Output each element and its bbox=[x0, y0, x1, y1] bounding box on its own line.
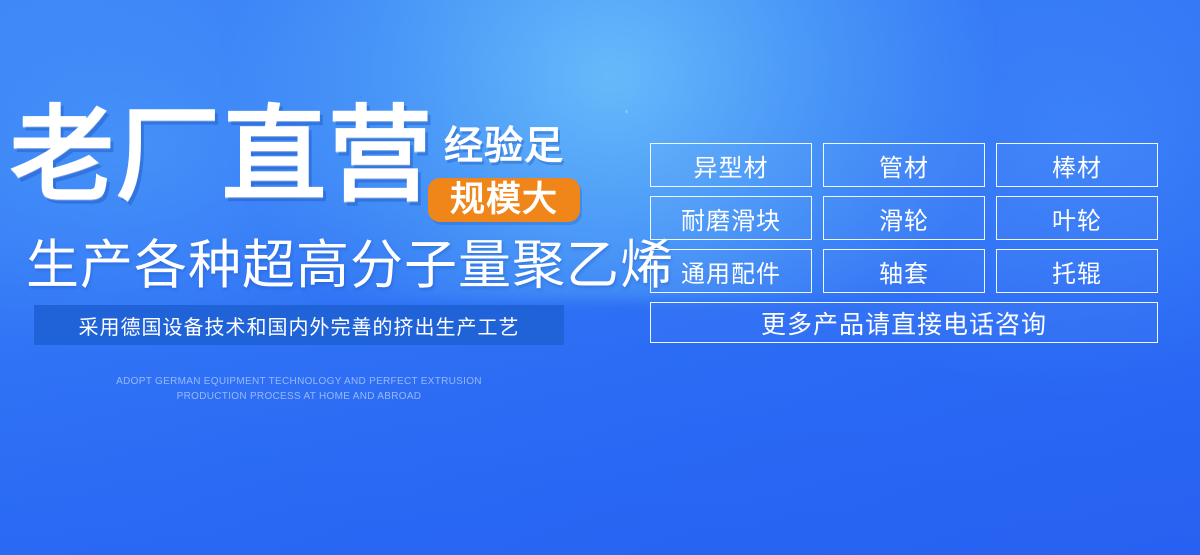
page-title: 老厂直营 bbox=[10, 103, 434, 207]
product-item-bangcai[interactable]: 棒材 bbox=[996, 143, 1158, 187]
badge-top-label: 经验足 bbox=[428, 124, 580, 170]
product-item-tongyongpeijian[interactable]: 通用配件 bbox=[650, 249, 812, 293]
product-item-yelun[interactable]: 叶轮 bbox=[996, 196, 1158, 240]
product-item-label: 轴套 bbox=[879, 254, 929, 289]
product-grid-row: 耐磨滑块 滑轮 叶轮 bbox=[650, 196, 1158, 240]
product-item-zhoutao[interactable]: 轴套 bbox=[823, 249, 985, 293]
headline-block: 老厂直营 经验足 规模大 生产各种超高分子量聚乙烯 采用德国设备技术和国内外完善… bbox=[0, 0, 620, 555]
product-item-naimohuakuai[interactable]: 耐磨滑块 bbox=[650, 196, 812, 240]
product-item-label: 异型材 bbox=[694, 148, 769, 183]
more-products-cta[interactable]: 更多产品请直接电话咨询 bbox=[650, 302, 1158, 343]
product-item-guancai[interactable]: 管材 bbox=[823, 143, 985, 187]
badge-pill: 规模大 bbox=[428, 178, 580, 222]
product-grid-row: 通用配件 轴套 托辊 bbox=[650, 249, 1158, 293]
more-products-label: 更多产品请直接电话咨询 bbox=[761, 305, 1047, 341]
promo-banner: 老厂直营 经验足 规模大 生产各种超高分子量聚乙烯 采用德国设备技术和国内外完善… bbox=[0, 0, 1200, 555]
product-item-yixingcai[interactable]: 异型材 bbox=[650, 143, 812, 187]
badge-pill-label: 规模大 bbox=[450, 183, 558, 218]
product-grid: 异型材 管材 棒材 耐磨滑块 滑轮 叶轮 通用配件 bbox=[650, 143, 1158, 343]
product-item-label: 耐磨滑块 bbox=[681, 201, 781, 236]
product-item-label: 滑轮 bbox=[879, 201, 929, 236]
product-item-label: 通用配件 bbox=[681, 254, 781, 289]
product-item-hualun[interactable]: 滑轮 bbox=[823, 196, 985, 240]
english-caption-line-1: ADOPT GERMAN EQUIPMENT TECHNOLOGY AND PE… bbox=[34, 374, 564, 389]
tagline-text: 采用德国设备技术和国内外完善的挤出生产工艺 bbox=[79, 311, 520, 340]
tagline-bar: 采用德国设备技术和国内外完善的挤出生产工艺 bbox=[34, 305, 564, 345]
product-item-label: 叶轮 bbox=[1052, 201, 1102, 236]
product-item-label: 管材 bbox=[879, 148, 929, 183]
english-caption: ADOPT GERMAN EQUIPMENT TECHNOLOGY AND PE… bbox=[34, 374, 564, 404]
product-grid-row: 异型材 管材 棒材 bbox=[650, 143, 1158, 187]
decorative-speck bbox=[625, 110, 628, 113]
product-item-tuogun[interactable]: 托辊 bbox=[996, 249, 1158, 293]
english-caption-line-2: PRODUCTION PROCESS AT HOME AND ABROAD bbox=[34, 389, 564, 404]
page-subtitle: 生产各种超高分子量聚乙烯 bbox=[26, 236, 674, 296]
experience-badge: 经验足 规模大 bbox=[428, 124, 580, 222]
product-item-label: 托辊 bbox=[1052, 254, 1102, 289]
product-item-label: 棒材 bbox=[1052, 148, 1102, 183]
